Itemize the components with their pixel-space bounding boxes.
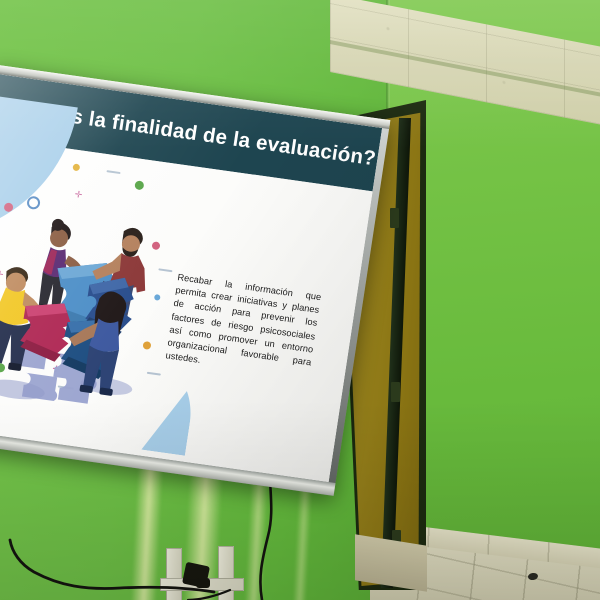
tv-screen: ¿Cual es la finalidad de la evaluación?	[0, 74, 382, 482]
door-hinge-top	[390, 208, 399, 228]
puzzle-teamwork-illustration	[0, 138, 193, 457]
tv-stand-post-left	[166, 548, 182, 600]
room-photo-scene: ¿Cual es la finalidad de la evaluación?	[0, 0, 600, 600]
slide-body-paragraph: Recabar la información que permita crear…	[165, 271, 322, 383]
tv-mount-connector	[196, 578, 210, 588]
presentation-slide: ¿Cual es la finalidad de la evaluación?	[0, 74, 382, 482]
tv-stand-post-right	[218, 546, 234, 600]
flat-screen-tv[interactable]: ¿Cual es la finalidad de la evaluación?	[0, 64, 390, 495]
door-hinge-middle	[391, 382, 400, 402]
slide-body: ✛ ✛ ✛	[0, 138, 373, 482]
